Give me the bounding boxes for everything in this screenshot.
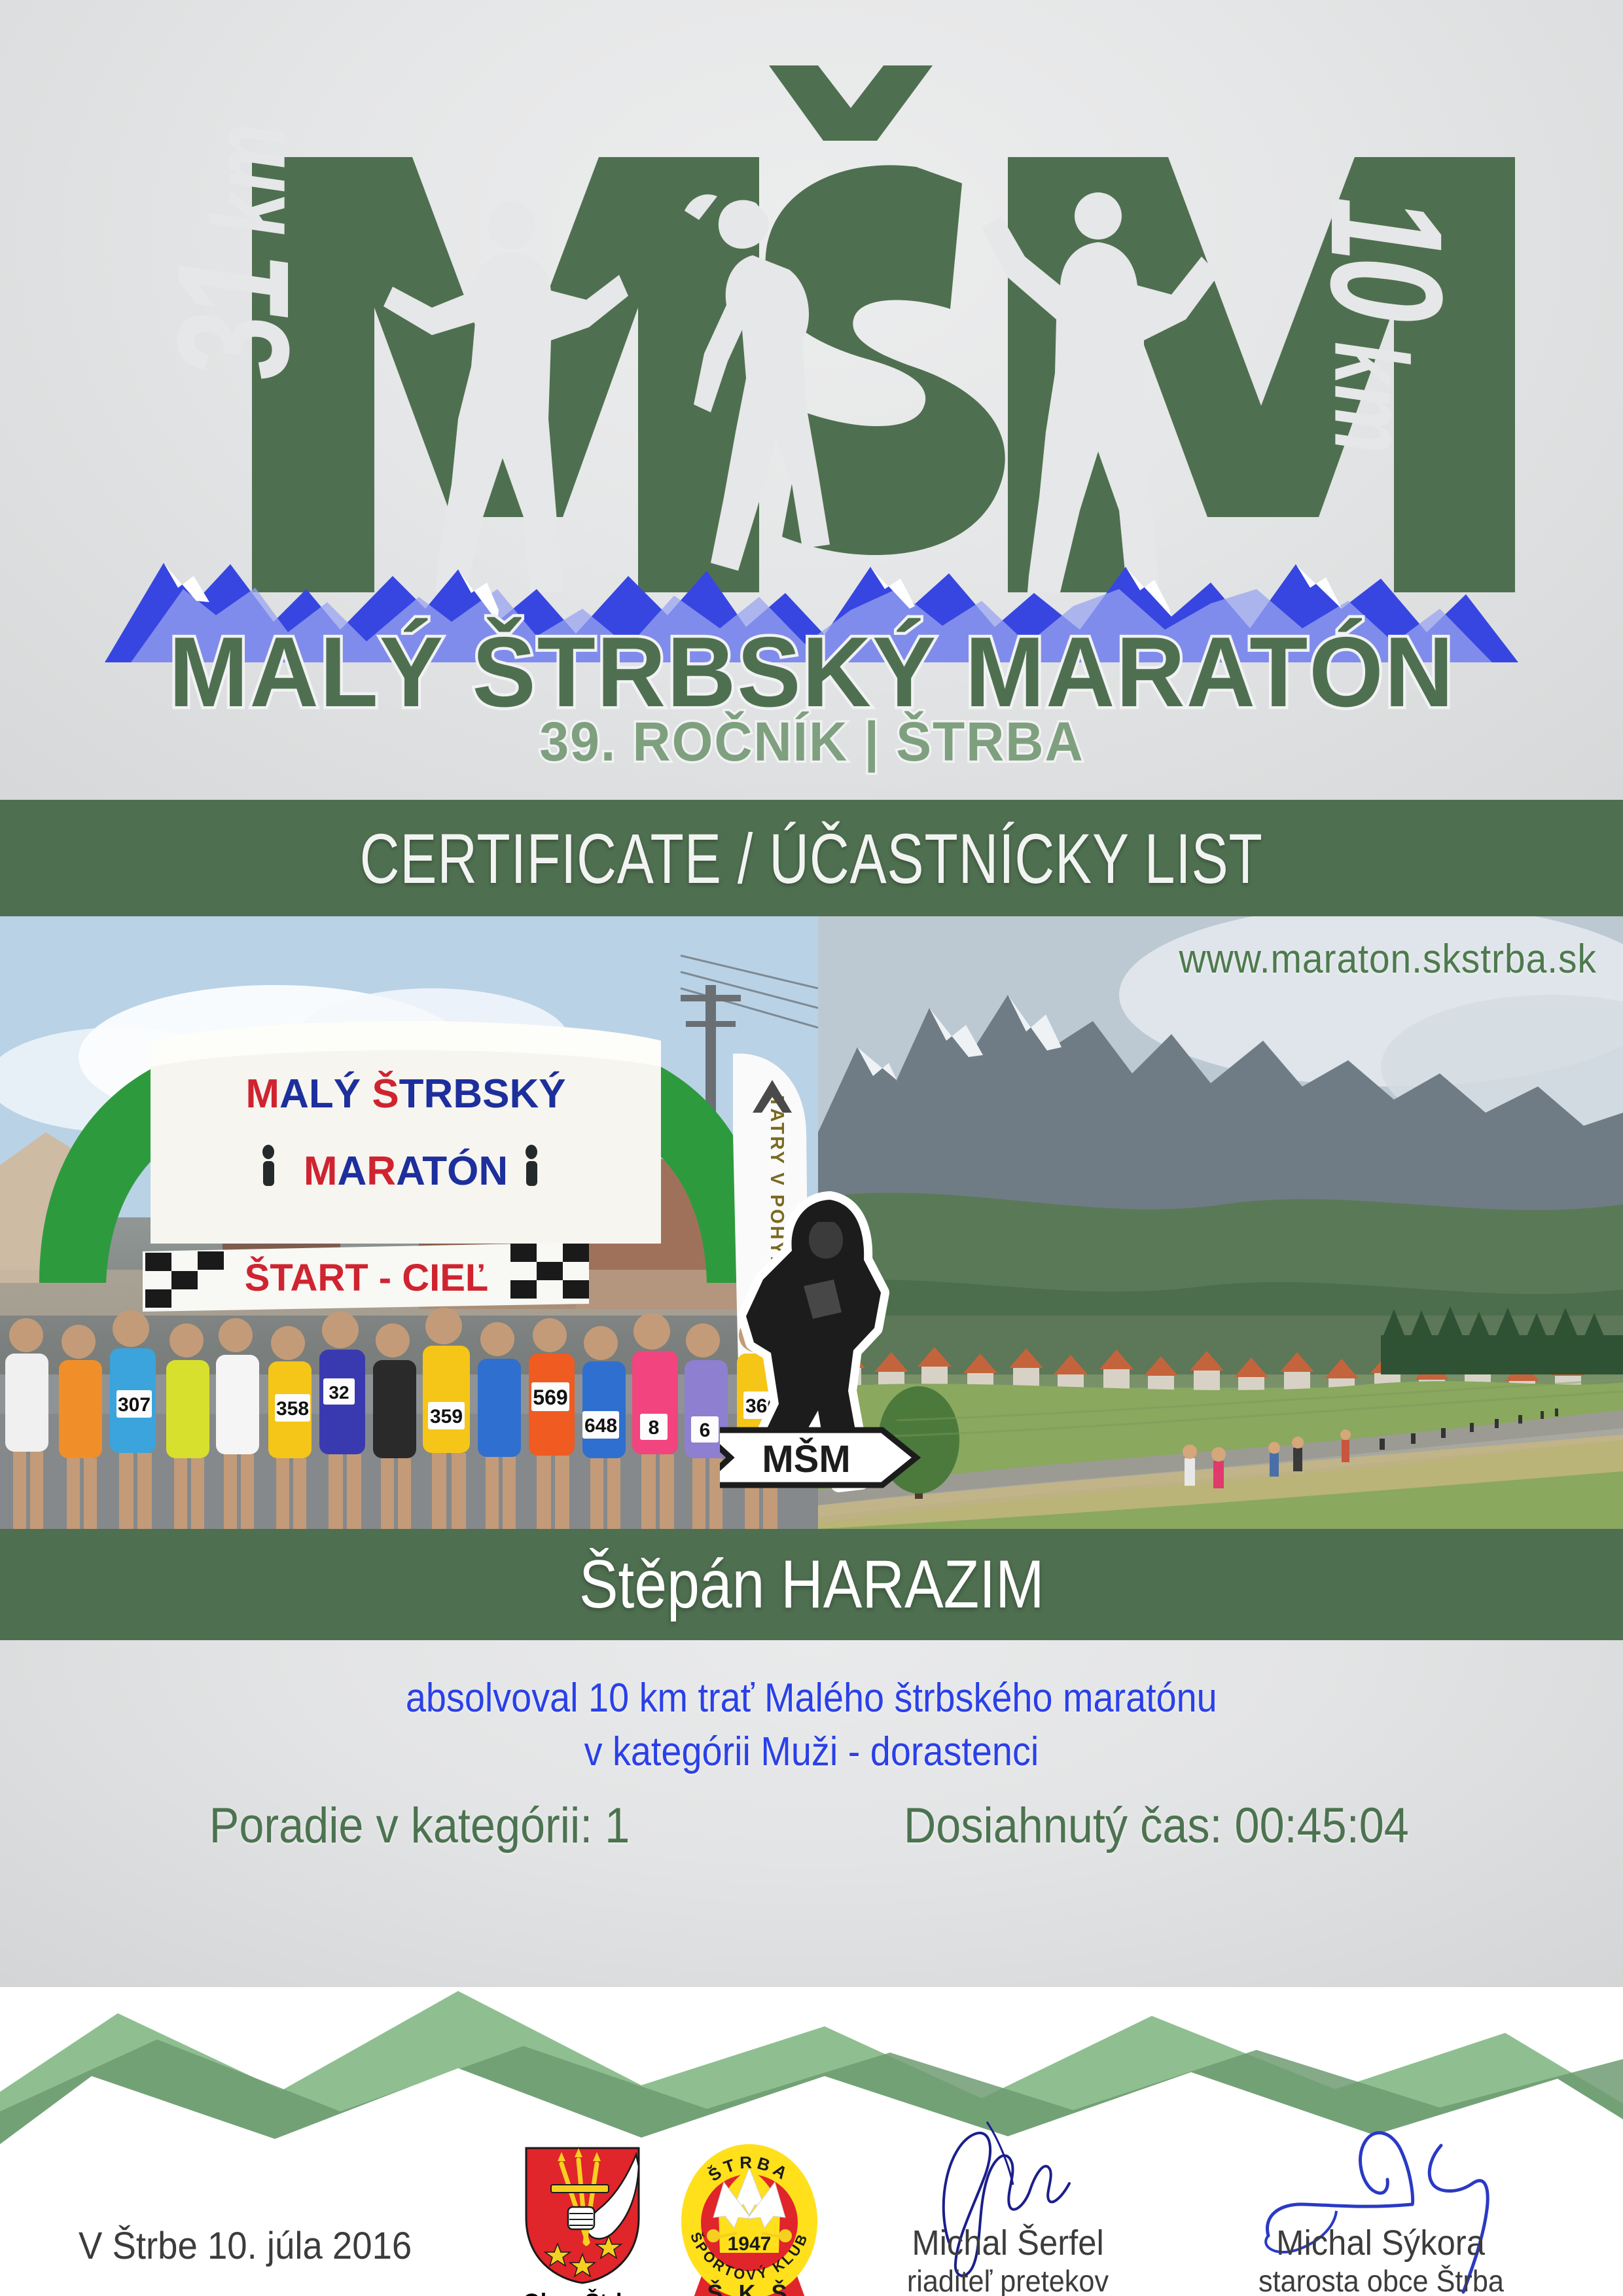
svg-text:10: 10 xyxy=(1298,196,1476,321)
event-edition: 39. ROČNÍK | ŠTRBA xyxy=(0,710,1623,774)
arch-text-line2: MARATÓN xyxy=(304,1149,508,1194)
svg-text:8: 8 xyxy=(649,1417,660,1439)
tatra-landscape-graphic xyxy=(818,916,1623,1529)
msm-chevron-banner: MŠM xyxy=(720,1430,916,1485)
msm-runner-emblem: MŠM xyxy=(720,1188,929,1496)
race-start-graphic: MALÝ ŠTRBSKÝ MARATÓN xyxy=(0,916,818,1529)
category-rank: Poradie v kategórii: 1 xyxy=(209,1797,630,1854)
crest-label: Obec Štrba xyxy=(504,2289,661,2296)
svg-text:32: 32 xyxy=(329,1382,349,1403)
certificate-body: absolvoval 10 km trať Malého štrbského m… xyxy=(0,1640,1623,1987)
photo-race-start: MALÝ ŠTRBSKÝ MARATÓN xyxy=(0,916,818,1529)
sks-strba-club-logo: ŠTRBA ŠPORTOVÝ KLUB 1947 Š K Š xyxy=(674,2136,838,2296)
signature-block-2: Michal Sýkora starosta obce Štrba xyxy=(1204,2223,1558,2296)
signature-2-role: starosta obce Štrba xyxy=(1258,2263,1504,2296)
recipient-name: Štěpán HARAZIM xyxy=(579,1546,1044,1624)
recipient-name-banner: Štěpán HARAZIM xyxy=(0,1529,1623,1640)
finish-time: Dosiahnutý čas: 00:45:04 xyxy=(904,1797,1409,1854)
village-houses xyxy=(818,1306,1623,1395)
certificate-description: absolvoval 10 km trať Malého štrbského m… xyxy=(0,1672,1623,1779)
svg-text:307: 307 xyxy=(118,1394,151,1416)
svg-text:km: km xyxy=(1313,342,1429,454)
signature-block-1: Michal Šerfel riaditeľ pretekov xyxy=(851,2223,1165,2296)
svg-text:ŠTART - CIEĽ: ŠTART - CIEĽ xyxy=(245,1257,489,1299)
signature-1-role: riaditeľ pretekov xyxy=(907,2263,1109,2296)
club-bottom-text: Š K Š xyxy=(707,2279,791,2296)
arch-text-line1: MALÝ ŠTRBSKÝ xyxy=(245,1071,565,1117)
club-year: 1947 xyxy=(728,2233,772,2255)
svg-text:358: 358 xyxy=(276,1398,309,1420)
signature-1-name: Michal Šerfel xyxy=(912,2223,1103,2263)
certificate-title-banner: CERTIFICATE / ÚČASTNÍCKY LIST xyxy=(0,800,1623,916)
issue-date: V Štrbe 10. júla 2016 xyxy=(79,2224,412,2268)
svg-text:648: 648 xyxy=(584,1415,617,1437)
photo-tatra-landscape: www.maraton.skstrba.sk xyxy=(818,916,1623,1529)
result-row: Poradie v kategórii: 1 Dosiahnutý čas: 0… xyxy=(0,1797,1623,1854)
footer-content-row: V Štrbe 10. júla 2016 xyxy=(0,2105,1623,2296)
svg-text:MŠM: MŠM xyxy=(762,1438,850,1480)
svg-text:6: 6 xyxy=(700,1420,711,1441)
description-line-1: absolvoval 10 km trať Malého štrbského m… xyxy=(406,1672,1217,1725)
description-line-2: v kategórii Muži - dorastenci xyxy=(584,1725,1039,1779)
svg-text:569: 569 xyxy=(533,1386,567,1409)
website-url: www.maraton.skstrba.sk xyxy=(1179,936,1597,982)
event-logo: 31 km 10 km MALÝ ŠTRBSKÝ MARATÓN 39. ROČ… xyxy=(0,0,1623,800)
certificate-footer: V Štrbe 10. júla 2016 xyxy=(0,1987,1623,2296)
svg-text:31: 31 xyxy=(145,259,323,380)
signature-2-name: Michal Sýkora xyxy=(1277,2223,1486,2263)
certificate-title: CERTIFICATE / ÚČASTNÍCKY LIST xyxy=(360,817,1263,899)
start-finish-banner: ŠTART - CIEĽ xyxy=(143,1242,589,1312)
header-logo-band: 31 km 10 km MALÝ ŠTRBSKÝ MARATÓN 39. ROČ… xyxy=(0,0,1623,800)
svg-text:km: km xyxy=(190,124,306,236)
obec-strba-crest: Obec Štrba xyxy=(504,2144,661,2296)
svg-text:359: 359 xyxy=(430,1406,463,1427)
